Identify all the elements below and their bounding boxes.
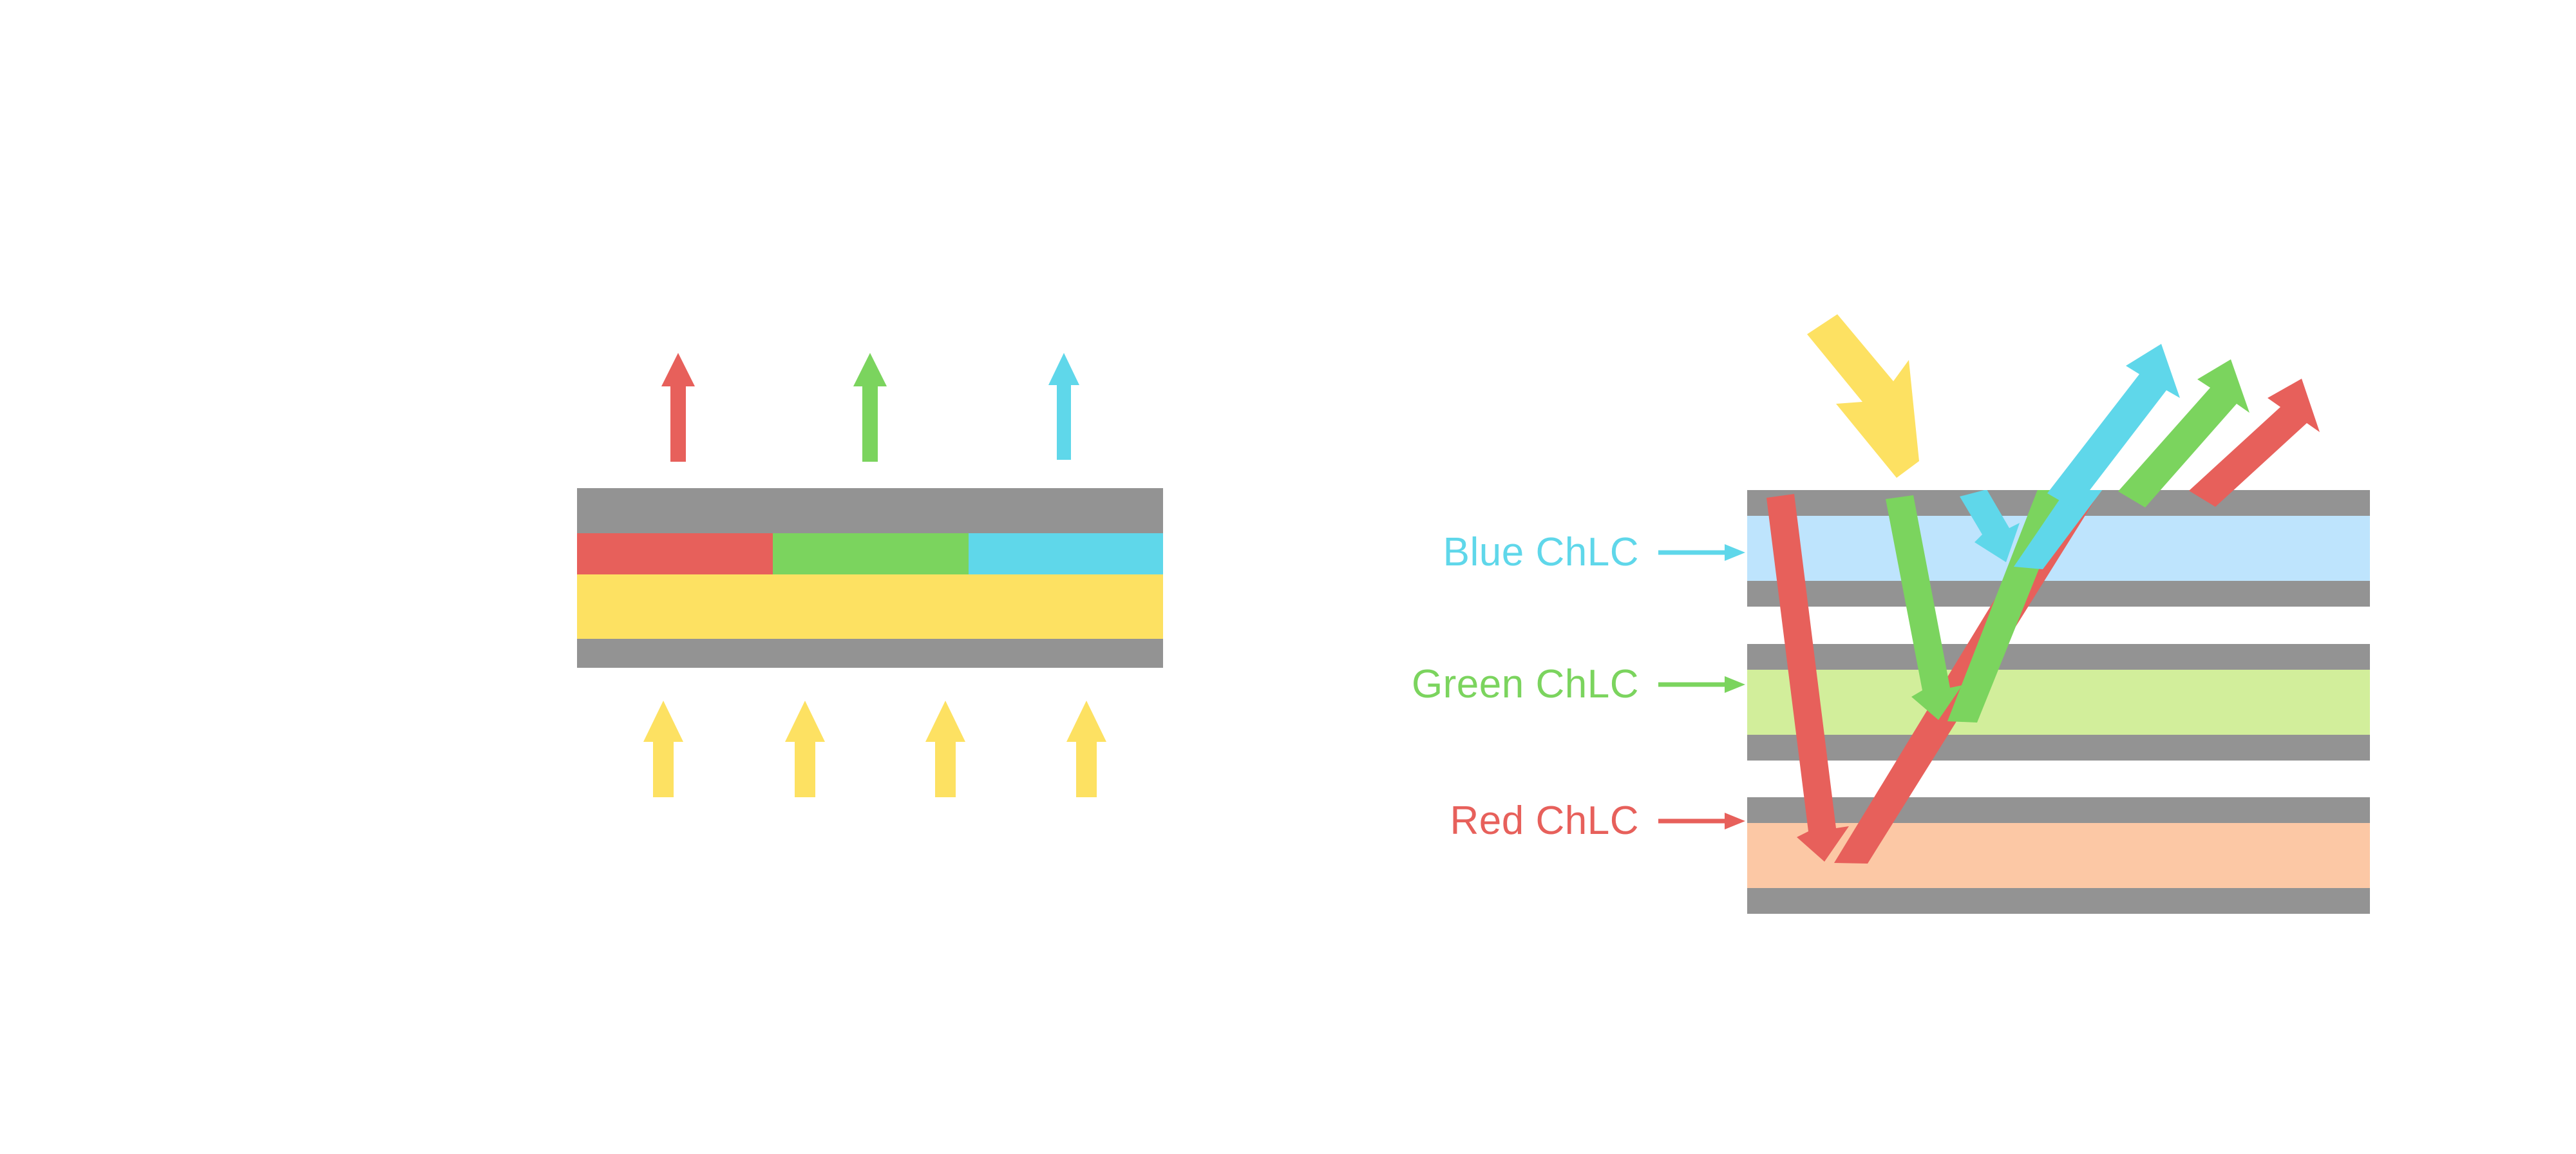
blue-cell-bottom-electrode bbox=[1747, 581, 2370, 607]
green-cell-bottom-electrode bbox=[1747, 735, 2370, 761]
red-cell-bottom-electrode bbox=[1747, 888, 2370, 914]
green-cell-top-electrode bbox=[1747, 644, 2370, 670]
left-top-electrode bbox=[577, 488, 1163, 533]
blue-chlc-label: Blue ChLC bbox=[1443, 530, 1639, 574]
diagram-svg: Blue ChLC Green ChLC Red ChLC bbox=[0, 0, 2576, 1154]
left-color-filter-green bbox=[773, 533, 969, 574]
red-chlc-label: Red ChLC bbox=[1450, 799, 1639, 843]
left-bottom-electrode bbox=[577, 639, 1163, 668]
red-cell-top-electrode bbox=[1747, 797, 2370, 823]
left-backlight-layer bbox=[577, 574, 1163, 639]
green-chlc-layer bbox=[1747, 670, 2370, 735]
left-color-filter-blue bbox=[969, 533, 1163, 574]
figure-canvas: Blue ChLC Green ChLC Red ChLC bbox=[0, 0, 2576, 1154]
left-color-filter-red bbox=[577, 533, 773, 574]
green-chlc-label: Green ChLC bbox=[1412, 662, 1639, 706]
